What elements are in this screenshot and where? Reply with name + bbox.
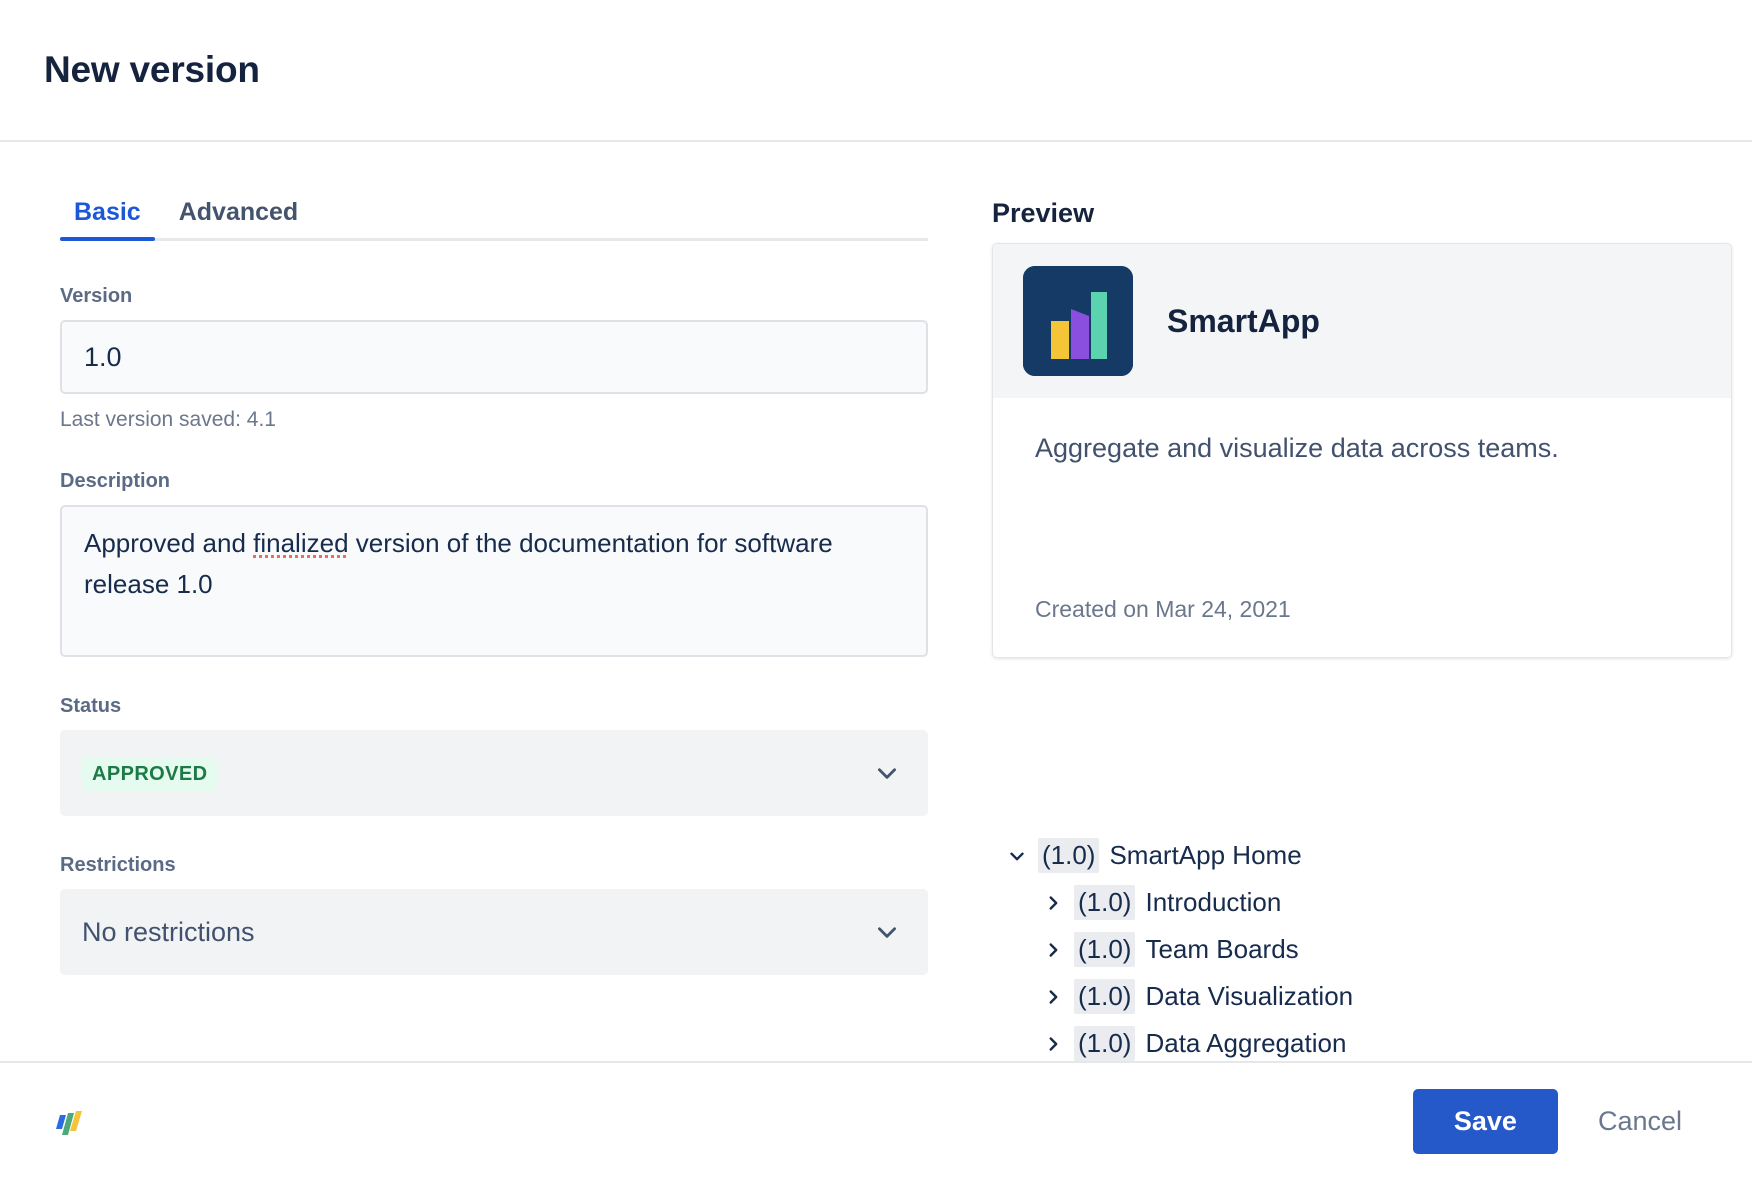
chevron-down-icon[interactable] <box>1006 845 1028 867</box>
description-misspelled-word: finalized <box>253 528 348 558</box>
dialog-header: New version <box>0 0 1752 142</box>
preview-card: SmartApp Aggregate and visualize data ac… <box>992 243 1732 658</box>
brand-logo-icon <box>48 1101 90 1143</box>
smartapp-logo-icon <box>1023 266 1133 376</box>
tree-item-label: SmartApp Home <box>1109 840 1301 871</box>
tree-item-version: (1.0) <box>1074 1026 1135 1061</box>
tab-advanced[interactable]: Advanced <box>165 198 312 241</box>
page-title: New version <box>44 49 260 91</box>
tree-item-team-boards[interactable]: (1.0) Team Boards <box>0 926 1752 973</box>
tree-item-introduction[interactable]: (1.0) Introduction <box>0 879 1752 926</box>
preview-heading: Preview <box>992 198 1752 229</box>
chevron-right-icon[interactable] <box>1042 986 1064 1008</box>
page-tree-container: (1.0) SmartApp Home (1.0) Introduction <box>0 832 1752 1061</box>
tree-item-smartapp-home[interactable]: (1.0) SmartApp Home <box>0 832 1752 879</box>
description-textarea[interactable]: Approved and finalized version of the do… <box>60 505 928 657</box>
status-badge: APPROVED <box>82 758 217 791</box>
tree-item-data-aggregation[interactable]: (1.0) Data Aggregation <box>0 1020 1752 1061</box>
status-select-value: APPROVED <box>82 756 874 791</box>
save-button[interactable]: Save <box>1413 1089 1558 1154</box>
tab-basic[interactable]: Basic <box>60 198 155 241</box>
version-label: Version <box>60 285 940 308</box>
tree-item-version: (1.0) <box>1074 885 1135 920</box>
preview-app-name: SmartApp <box>1167 303 1320 340</box>
tree-item-version: (1.0) <box>1074 932 1135 967</box>
last-version-saved-text: Last version saved: 4.1 <box>60 408 940 432</box>
cancel-button[interactable]: Cancel <box>1572 1089 1708 1154</box>
preview-created-date: Created on Mar 24, 2021 <box>1035 596 1689 623</box>
description-label: Description <box>60 470 940 493</box>
tree-item-label: Introduction <box>1145 887 1281 918</box>
preview-card-body: Aggregate and visualize data across team… <box>993 398 1731 657</box>
footer-actions: Save Cancel <box>1413 1089 1708 1154</box>
version-input[interactable]: 1.0 <box>60 320 928 394</box>
preview-card-header: SmartApp <box>993 244 1731 398</box>
tree-item-label: Team Boards <box>1145 934 1298 965</box>
chevron-right-icon[interactable] <box>1042 892 1064 914</box>
chevron-right-icon[interactable] <box>1042 1033 1064 1055</box>
chevron-right-icon[interactable] <box>1042 939 1064 961</box>
tree-item-version: (1.0) <box>1074 979 1135 1014</box>
tree-item-data-visualization[interactable]: (1.0) Data Visualization <box>0 973 1752 1020</box>
status-select[interactable]: APPROVED <box>60 730 928 816</box>
dialog-body: Basic Advanced Version 1.0 Last version … <box>0 142 1752 1061</box>
dialog-footer: Save Cancel <box>0 1061 1752 1180</box>
status-label: Status <box>60 695 940 718</box>
description-text-part-1: Approved and <box>84 528 253 558</box>
preview-description: Aggregate and visualize data across team… <box>1035 428 1689 548</box>
form-tabs: Basic Advanced <box>60 198 928 241</box>
tree-item-version: (1.0) <box>1038 838 1099 873</box>
new-version-dialog: New version Basic Advanced Version 1.0 L… <box>0 0 1752 1180</box>
tree-item-label: Data Visualization <box>1145 981 1353 1012</box>
tree-item-label: Data Aggregation <box>1145 1028 1346 1059</box>
chevron-down-icon <box>874 760 900 786</box>
